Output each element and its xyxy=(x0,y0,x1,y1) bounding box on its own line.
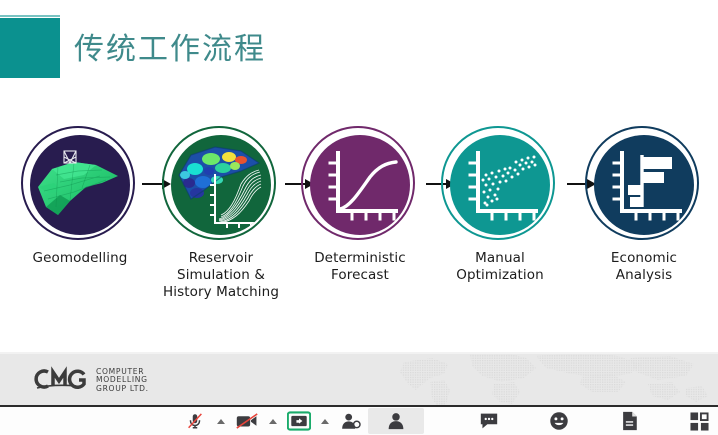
chevron-up-icon xyxy=(217,419,225,424)
world-map-watermark-icon xyxy=(386,352,716,405)
geological-model-3d-icon xyxy=(30,135,130,235)
share-screen-button[interactable] xyxy=(282,407,316,435)
workflow-step-geomodelling[interactable]: Geomodelling xyxy=(14,126,146,267)
step-label: Geomodelling xyxy=(14,250,146,267)
invite-participants-button[interactable] xyxy=(334,407,368,435)
slide-title-row: 传统工作流程 xyxy=(0,16,718,80)
step-icon-circle xyxy=(162,126,280,244)
microphone-muted-icon xyxy=(186,412,204,430)
cmg-logo: COMPUTER MODELLING GROUP LTD. xyxy=(30,366,149,393)
step-icon-circle xyxy=(21,126,139,244)
workflow-diagram: Geomodelling xyxy=(0,126,718,316)
add-person-icon xyxy=(341,412,361,430)
stop-video-button[interactable] xyxy=(230,407,264,435)
cmg-word-line-3: GROUP LTD. xyxy=(96,385,149,393)
chat-bubble-icon xyxy=(479,412,499,430)
cmg-logo-wordmark: COMPUTER MODELLING GROUP LTD. xyxy=(96,366,149,393)
grid-apps-icon xyxy=(690,412,709,431)
step-label: Manual Optimization xyxy=(434,250,566,284)
audio-options-caret[interactable] xyxy=(212,407,230,435)
step-label: Reservoir Simulation & History Matching xyxy=(155,250,287,301)
document-icon xyxy=(621,411,638,431)
chat-button[interactable] xyxy=(472,407,506,435)
video-options-caret[interactable] xyxy=(264,407,282,435)
title-accent-block xyxy=(0,18,60,78)
reactions-button[interactable] xyxy=(542,407,576,435)
person-icon xyxy=(387,412,405,430)
workflow-step-manual-optimization[interactable]: Manual Optimization xyxy=(434,126,566,284)
scatter-plot-icon xyxy=(450,135,550,235)
participants-button[interactable] xyxy=(368,408,424,434)
forecast-curve-chart-icon xyxy=(310,135,410,235)
slide-footer: COMPUTER MODELLING GROUP LTD. xyxy=(0,352,718,405)
step-icon-circle xyxy=(301,126,419,244)
page-title: 传统工作流程 xyxy=(74,24,266,68)
apps-button[interactable] xyxy=(682,407,716,435)
step-icon-circle xyxy=(585,126,703,244)
step-icon-circle xyxy=(441,126,559,244)
smiley-face-icon xyxy=(549,411,569,431)
notes-button[interactable] xyxy=(612,407,646,435)
share-screen-icon xyxy=(287,411,311,431)
workflow-step-deterministic-forecast[interactable]: Deterministic Forecast xyxy=(294,126,426,284)
workflow-step-reservoir-simulation[interactable]: Reservoir Simulation & History Matching xyxy=(155,126,287,301)
step-label: Economic Analysis xyxy=(578,250,710,284)
tornado-bar-chart-icon xyxy=(594,135,694,235)
video-camera-off-icon xyxy=(236,412,258,430)
presentation-slide: 传统工作流程 xyxy=(0,0,718,405)
cmg-logo-mark xyxy=(30,366,90,392)
share-options-caret[interactable] xyxy=(316,407,334,435)
workflow-step-economic-analysis[interactable]: Economic Analysis xyxy=(578,126,710,284)
chevron-up-icon xyxy=(321,419,329,424)
reservoir-heatmap-curves-icon xyxy=(171,135,271,235)
chevron-up-icon xyxy=(269,419,277,424)
step-label: Deterministic Forecast xyxy=(294,250,426,284)
meeting-control-toolbar xyxy=(0,405,718,435)
mute-audio-button[interactable] xyxy=(178,407,212,435)
